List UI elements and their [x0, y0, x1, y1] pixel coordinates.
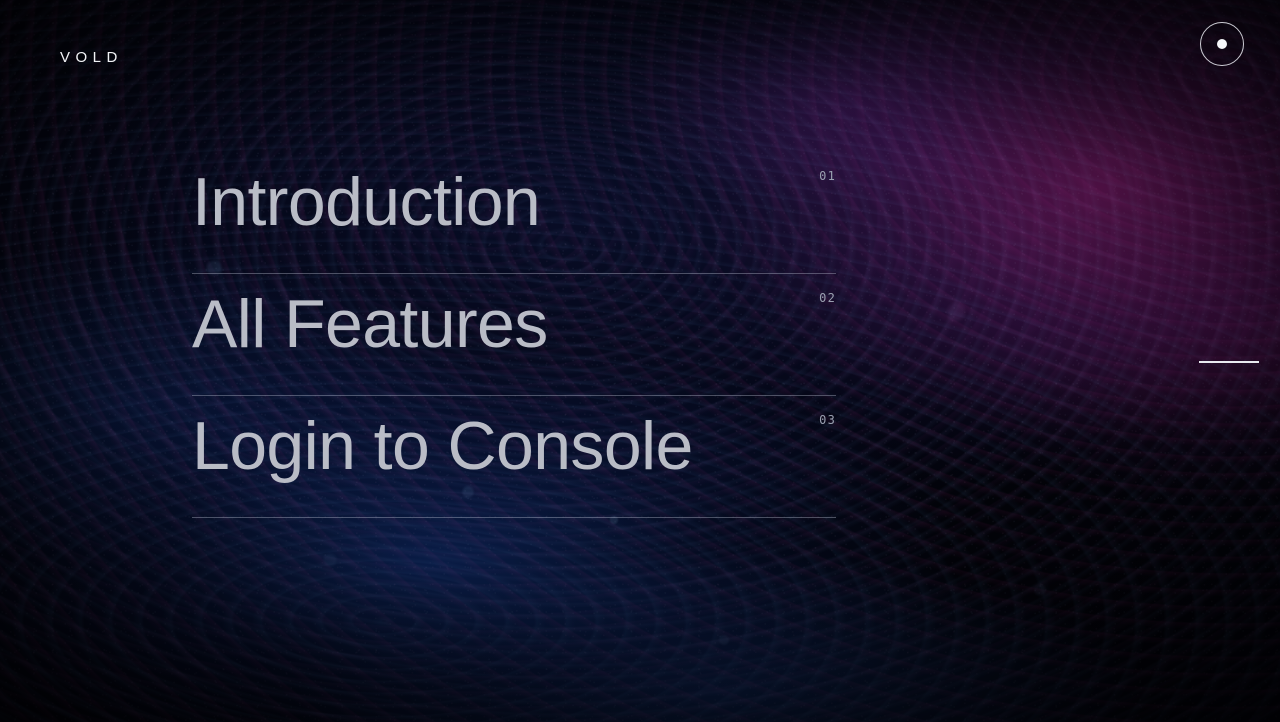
menu-item-index: 02 — [819, 292, 836, 304]
circle-dot-icon — [1217, 39, 1227, 49]
menu-item-all-features[interactable]: All Features 02 — [192, 274, 836, 396]
menu-item-login-to-console[interactable]: Login to Console 03 — [192, 396, 836, 518]
menu-toggle-button[interactable] — [1200, 22, 1244, 66]
menu-item-introduction[interactable]: Introduction 01 — [192, 152, 836, 274]
brand-logo[interactable]: VOLD — [60, 50, 123, 65]
menu-item-label: All Features — [192, 290, 548, 358]
scroll-progress-marker[interactable] — [1199, 361, 1259, 363]
menu-item-index: 03 — [819, 414, 836, 426]
main-menu-list: Introduction 01 All Features 02 Login to… — [192, 152, 836, 518]
menu-item-index: 01 — [819, 170, 836, 182]
menu-item-label: Introduction — [192, 168, 540, 236]
footer: © 2020 Vold. All rights reserved. Websit… — [0, 602, 1280, 722]
page-root: VOLD Introduction 01 All Features 02 Log… — [0, 0, 1280, 722]
menu-item-label: Login to Console — [192, 412, 693, 480]
